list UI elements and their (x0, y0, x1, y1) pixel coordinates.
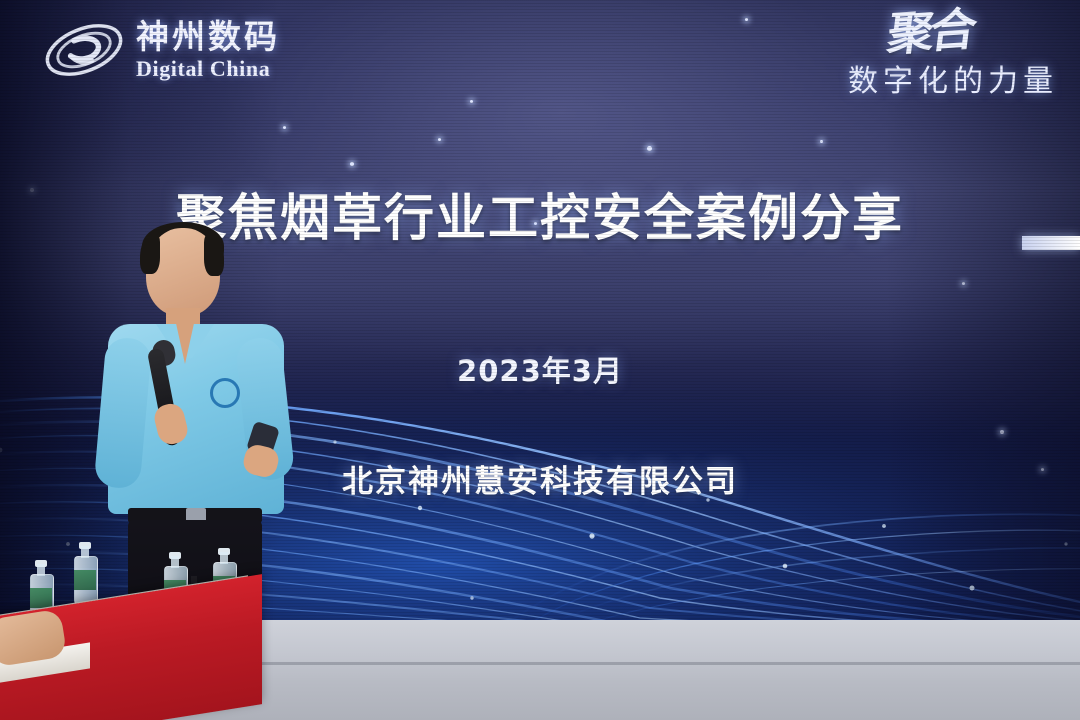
particle-dot (470, 100, 473, 103)
brand-name-cn: 神州数码 (136, 20, 280, 53)
particle-dot (962, 282, 965, 285)
particle-dot (745, 18, 748, 21)
speaker-person (104, 228, 289, 628)
particle-dot (283, 126, 286, 129)
digital-china-logo: 神州数码 Digital China (42, 14, 280, 86)
particle-dot (1000, 430, 1004, 434)
particle-dot (438, 138, 441, 141)
slide-accent-bar (1022, 236, 1080, 250)
speaker-hair-side-left (140, 234, 160, 274)
particle-dot (820, 140, 823, 143)
event-calligraphy: 聚合 (845, 8, 976, 59)
bottle-label (74, 570, 96, 590)
event-tagline: 数字化的力量 (848, 56, 1058, 100)
bottle-label (30, 588, 52, 608)
water-bottle-icon (74, 542, 96, 604)
particle-dot (350, 162, 354, 166)
particle-dot (647, 146, 652, 151)
polo-chest-logo-icon (210, 378, 240, 408)
digital-china-wordmark: 神州数码 Digital China (136, 20, 280, 80)
event-branding: 聚合 数字化的力量 (848, 12, 1058, 100)
digital-china-spiral-icon (42, 14, 126, 86)
presentation-photo: 神州数码 Digital China 聚合 数字化的力量 聚焦烟草行业工控安全案… (0, 0, 1080, 720)
brand-name-en: Digital China (136, 58, 280, 80)
